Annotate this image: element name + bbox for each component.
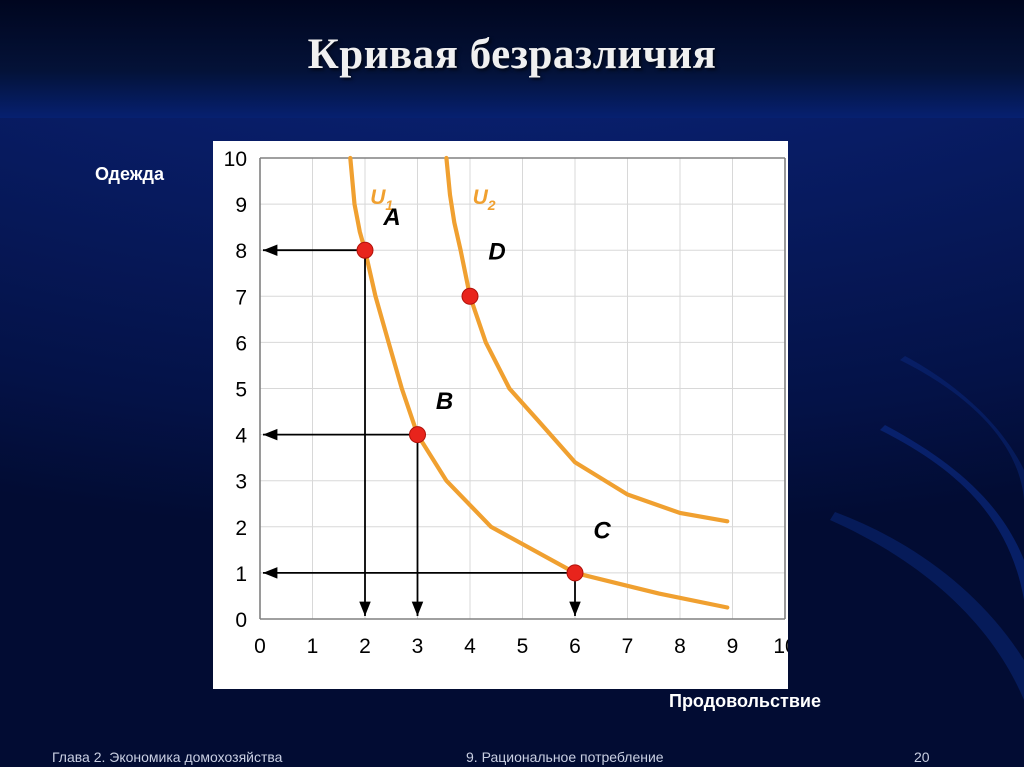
chart-plate: 012345678910012345678910U1U2ABCD xyxy=(213,141,788,689)
y-axis-title: Одежда xyxy=(95,164,164,185)
x-tick-label: 0 xyxy=(254,635,266,658)
x-tick-label: 1 xyxy=(307,635,319,658)
footer-chapter: Глава 2. Экономика домохозяйства xyxy=(52,749,282,765)
data-point-label-D: D xyxy=(488,238,505,265)
x-tick-label: 2 xyxy=(359,635,371,658)
x-tick-label: 9 xyxy=(727,635,739,658)
x-tick-label: 10 xyxy=(773,635,788,658)
y-tick-label: 10 xyxy=(224,148,247,171)
data-point-B xyxy=(410,427,426,443)
x-tick-label: 8 xyxy=(674,635,686,658)
data-point-label-B: B xyxy=(436,388,453,415)
y-tick-label: 0 xyxy=(235,609,247,632)
data-point-C xyxy=(567,565,583,581)
x-tick-label: 7 xyxy=(622,635,634,658)
curve-label-U2: U2 xyxy=(473,186,496,213)
x-tick-label: 4 xyxy=(464,635,476,658)
page-title: Кривая безразличия xyxy=(0,30,1024,79)
x-axis-title: Продовольствие xyxy=(669,691,821,712)
y-tick-label: 4 xyxy=(235,425,247,448)
y-tick-label: 8 xyxy=(235,240,247,263)
curve-U1 xyxy=(350,158,727,608)
y-tick-label: 5 xyxy=(235,379,247,402)
x-tick-label: 6 xyxy=(569,635,581,658)
data-point-D xyxy=(462,288,478,304)
y-tick-label: 6 xyxy=(235,332,247,355)
y-tick-label: 9 xyxy=(235,194,247,217)
data-point-label-A: A xyxy=(382,204,400,231)
y-tick-label: 1 xyxy=(235,563,247,586)
y-tick-label: 3 xyxy=(235,471,247,494)
y-tick-label: 2 xyxy=(235,517,247,540)
y-tick-label: 7 xyxy=(235,286,247,309)
footer-page-number: 20 xyxy=(914,749,930,765)
footer-section: 9. Рациональное потребление xyxy=(466,749,664,765)
data-point-label-C: C xyxy=(593,517,611,544)
indifference-curve-chart: 012345678910012345678910U1U2ABCD xyxy=(213,141,788,689)
slide-background: Кривая безразличия Одежда Продовольствие… xyxy=(0,0,1024,767)
x-tick-label: 5 xyxy=(517,635,529,658)
data-point-A xyxy=(357,242,373,258)
x-tick-label: 3 xyxy=(412,635,424,658)
